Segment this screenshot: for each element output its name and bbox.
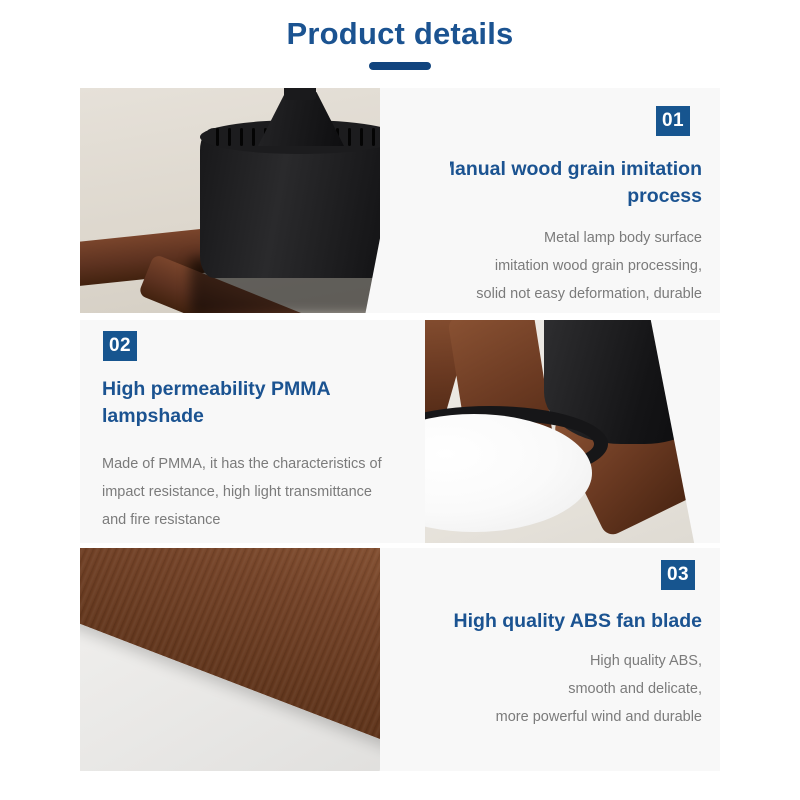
feature-number-badge-03: 03 [661, 560, 695, 590]
feature-body-line: Made of PMMA, it has the characteristics… [102, 450, 385, 478]
feature-body-line: more powerful wind and durable [420, 703, 702, 731]
feature-body-line: impact resistance, high light transmitta… [102, 478, 385, 506]
title-underline-bar [369, 62, 431, 70]
page-title: Product details [0, 14, 800, 54]
feature-heading-02: High permeability PMMA lampshade [102, 376, 385, 430]
downrod-cone [258, 92, 344, 146]
feature-heading-03: High quality ABS fan blade [420, 608, 702, 635]
downrod [284, 88, 316, 100]
feature-panel-03: 03 High quality ABS fan blade High quali… [80, 548, 720, 771]
page-header: Product details [0, 14, 800, 70]
feature-body-line: imitation wood grain processing, [420, 252, 702, 280]
feature-body-line: High quality ABS, [420, 647, 702, 675]
feature-body-01: Metal lamp body surface imitation wood g… [420, 224, 702, 308]
feature-body-line: solid not easy deformation, durable [420, 280, 702, 308]
feature-heading-01: Manual wood grain imitation process [420, 156, 702, 210]
feature-body-line: smooth and delicate, [420, 675, 702, 703]
product-details-page: Product details [0, 0, 800, 800]
feature-number-badge-02: 02 [103, 331, 137, 361]
feature-body-line: and fire resistance [102, 506, 385, 534]
feature-body-line: Metal lamp body surface [420, 224, 702, 252]
feature-number-badge-01: 01 [656, 106, 690, 136]
feature-panel-01: 01 Manual wood grain imitation process M… [80, 88, 720, 313]
feature-body-02: Made of PMMA, it has the characteristics… [102, 450, 385, 534]
feature-panel-02: 02 High permeability PMMA lampshade Made… [80, 320, 720, 543]
feature-text-02: 02 High permeability PMMA lampshade Made… [80, 320, 425, 543]
feature-body-03: High quality ABS, smooth and delicate, m… [420, 647, 702, 731]
